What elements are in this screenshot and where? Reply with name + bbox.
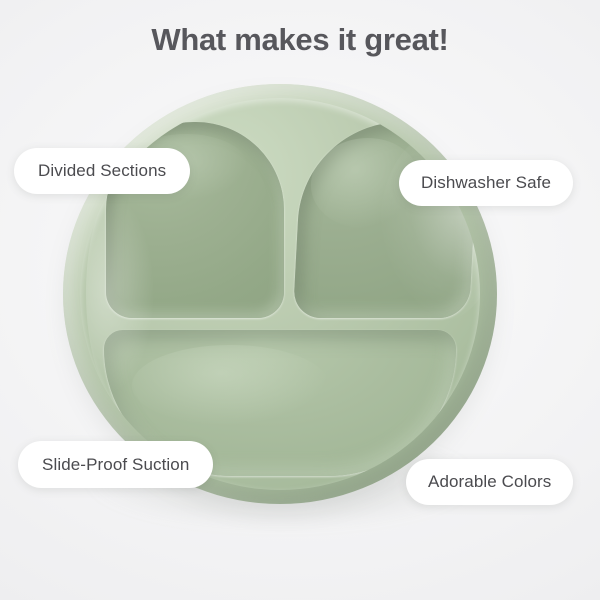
page-title: What makes it great! bbox=[0, 22, 600, 58]
feature-badge-divided-sections: Divided Sections bbox=[14, 148, 190, 194]
feature-badge-label: Dishwasher Safe bbox=[421, 173, 551, 193]
feature-badge-label: Slide-Proof Suction bbox=[42, 455, 189, 475]
promo-card: What makes it great! Divided Sections Di… bbox=[0, 0, 600, 600]
feature-badge-dishwasher-safe: Dishwasher Safe bbox=[399, 160, 573, 206]
feature-badge-slide-proof-suction: Slide-Proof Suction bbox=[18, 441, 213, 488]
plate-compartment-top-right bbox=[293, 122, 479, 318]
feature-badge-label: Divided Sections bbox=[38, 161, 166, 181]
feature-badge-adorable-colors: Adorable Colors bbox=[406, 459, 573, 505]
feature-badge-label: Adorable Colors bbox=[428, 472, 551, 492]
